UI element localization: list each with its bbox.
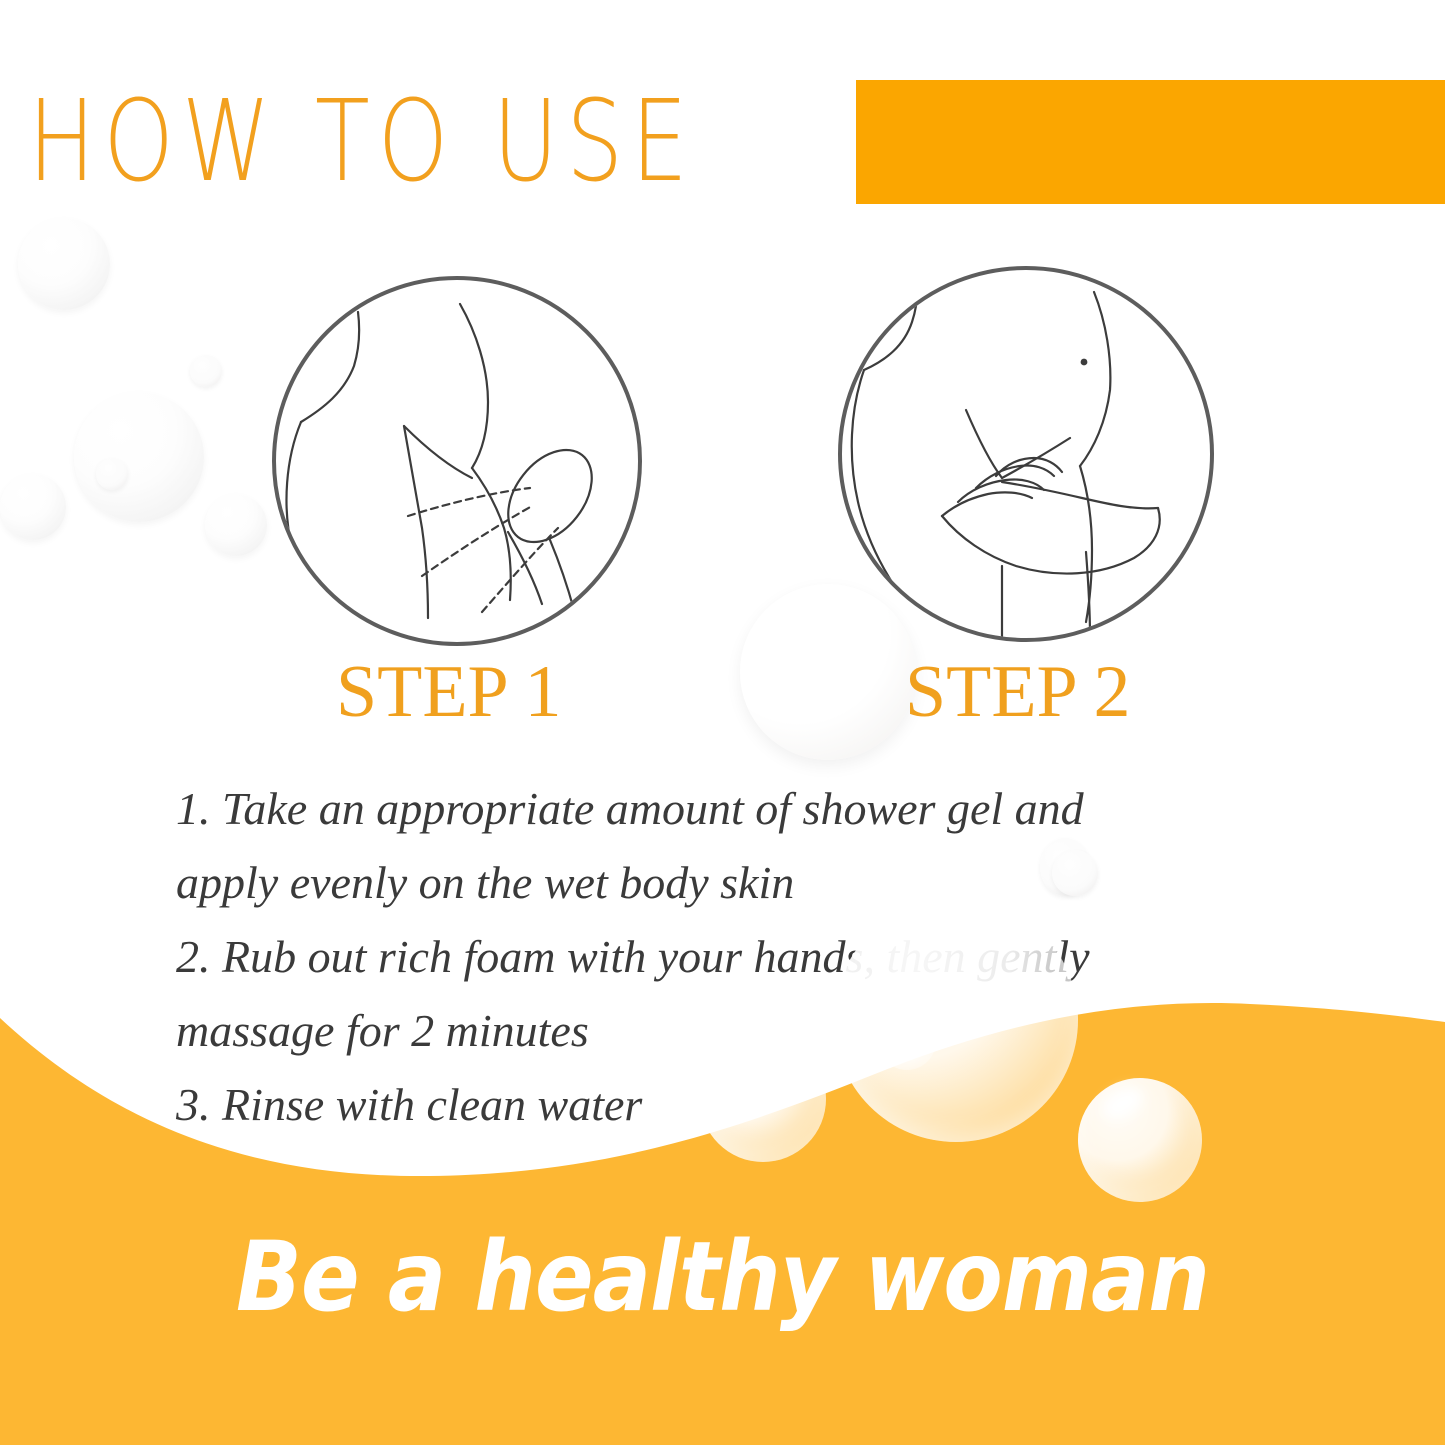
step-1-illustration-circle: [272, 276, 642, 646]
bubble-icon: [18, 218, 110, 310]
step-2-illustration-circle: [838, 266, 1214, 642]
instruction-line: apply evenly on the wet body skin: [176, 846, 1246, 920]
page-title: HOW TO USE: [28, 74, 668, 210]
bubble-icon: [740, 584, 916, 760]
instruction-line: 1. Take an appropriate amount of shower …: [176, 772, 1246, 846]
bubble-icon: [205, 494, 267, 556]
bubble-icon: [74, 392, 204, 522]
poster-canvas: HOW TO USE: [0, 0, 1445, 1445]
cupped-hands-line-art-icon: [842, 270, 1210, 638]
bubble-icon: [96, 458, 128, 490]
orange-wave-shape: [0, 960, 1445, 1445]
step-2-label: STEP 2: [905, 655, 1130, 729]
header-orange-band: [856, 80, 1445, 204]
step-1-label: STEP 1: [336, 655, 561, 729]
footer-tagline: Be a healthy woman: [72, 1218, 1373, 1336]
bubble-icon: [0, 474, 66, 540]
bubble-icon: [190, 355, 222, 387]
shoulder-washing-line-art-icon: [276, 280, 638, 642]
